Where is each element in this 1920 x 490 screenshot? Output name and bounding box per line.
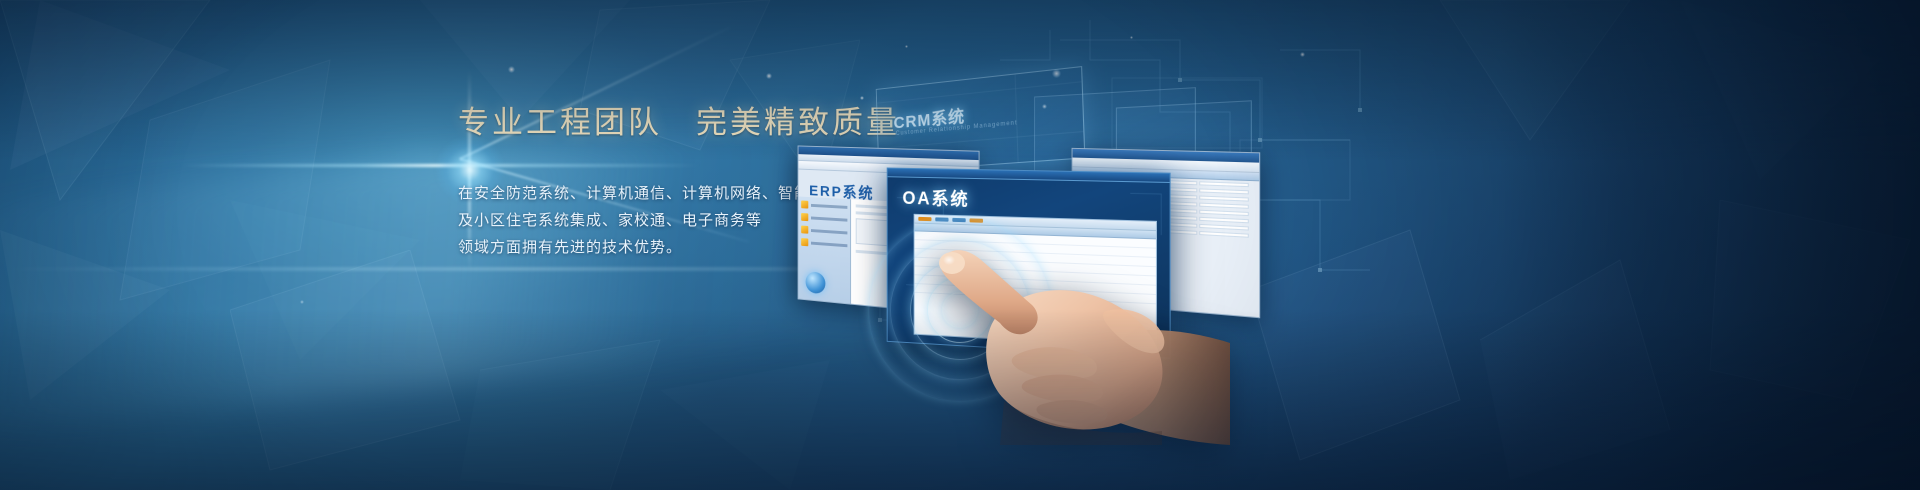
erp-nav-label (811, 203, 847, 208)
polygon-decor-top-right (1380, 0, 1920, 230)
bokeh-dot (300, 300, 304, 304)
right-edge-fade (1500, 0, 1920, 490)
pointing-hand (900, 205, 1230, 445)
erp-nav-item[interactable] (801, 226, 847, 237)
bokeh-dot (1300, 52, 1305, 57)
folder-icon (801, 200, 808, 208)
erp-nav-item[interactable] (801, 238, 847, 249)
table-cell (1199, 181, 1248, 187)
folder-icon (801, 226, 808, 234)
table-cell (1199, 188, 1248, 194)
erp-nav-label (811, 216, 847, 221)
polygon-decor-bottom (230, 250, 850, 490)
erp-nav-label (811, 229, 847, 234)
hero-banner: 专业工程团队 完美精致质量 在安全防范系统、计算机通信、计算机网络、智能大厦 及… (0, 0, 1920, 490)
folder-icon (801, 213, 808, 221)
erp-nav-item[interactable] (801, 200, 847, 210)
folder-icon (801, 238, 808, 246)
bokeh-dot (508, 66, 515, 73)
erp-nav-item[interactable] (801, 213, 847, 224)
bokeh-dot (1130, 36, 1133, 39)
polygon-decor-left (0, 0, 520, 420)
erp-nav-label (811, 241, 847, 247)
table-cell (1199, 195, 1248, 201)
polygon-decor-right (1250, 200, 1920, 490)
